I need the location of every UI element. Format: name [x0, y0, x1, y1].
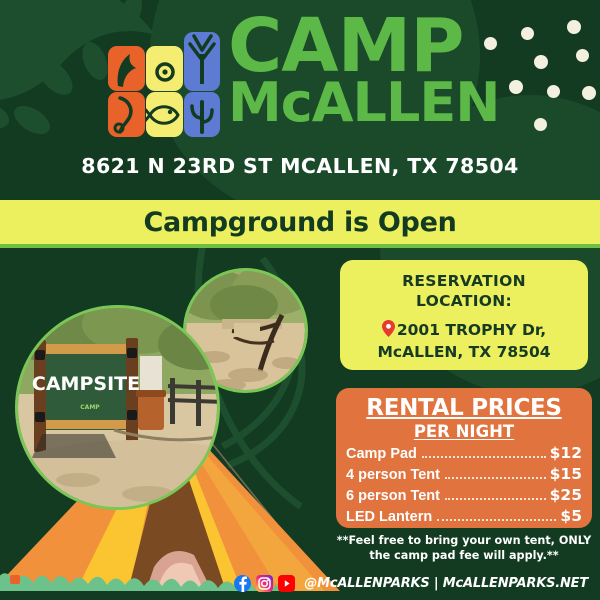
price-label: 6 person Tent — [346, 488, 440, 504]
reservation-title: RESERVATION LOCATION: — [350, 271, 578, 312]
rental-prices-card: RENTAL PRICES PER NIGHT Camp Pad $12 4 p… — [336, 388, 592, 528]
tree-glyph-tile — [184, 32, 220, 91]
price-row: Camp Pad $12 — [346, 444, 582, 462]
rental-subtitle: PER NIGHT — [346, 422, 582, 441]
price-row: 6 person Tent $25 — [346, 486, 582, 504]
logo-text-camp: CAMP — [228, 18, 499, 76]
price-value: $15 — [550, 465, 582, 483]
dot-leader — [445, 477, 546, 479]
price-label: LED Lantern — [346, 509, 432, 525]
svg-text:CAMP: CAMP — [80, 404, 100, 411]
map-pin-icon — [382, 320, 395, 342]
svg-text:CAMPSITE: CAMPSITE — [32, 373, 140, 395]
logo-wordmark: CAMP McALLEN — [228, 18, 499, 126]
social-handle[interactable]: @McALLENPARKS | McALLENPARKS.NET — [304, 576, 588, 591]
youtube-icon[interactable] — [278, 575, 295, 592]
reservation-title-line2: LOCATION: — [416, 292, 512, 310]
price-value: $25 — [550, 486, 582, 504]
price-label: 4 person Tent — [346, 467, 440, 483]
reservation-address: 2001 TROPHY Dr, McALLEN, TX 78504 — [350, 320, 578, 362]
campsite-sign-photo: CAMPSITE CAMP — [15, 305, 220, 510]
price-row: LED Lantern $5 — [346, 507, 582, 525]
logo: CAMP McALLEN — [108, 32, 499, 137]
reservation-address-line1: 2001 TROPHY Dr, — [397, 321, 546, 339]
cactus-glyph-tile — [184, 92, 220, 137]
rental-title: RENTAL PRICES — [346, 395, 582, 421]
status-banner: Campground is Open — [0, 200, 600, 248]
rental-note-line1: **Feel free to bring your own tent, ONLY — [337, 534, 591, 547]
logo-glyph-grid — [108, 32, 220, 137]
fish-glyph-tile — [146, 92, 183, 137]
dot-leader — [437, 519, 556, 521]
price-row: 4 person Tent $15 — [346, 465, 582, 483]
logo-text-mcallen: McALLEN — [228, 80, 499, 126]
facebook-icon[interactable] — [234, 575, 251, 592]
instagram-icon[interactable] — [256, 575, 273, 592]
poster-root: CAMP McALLEN 8621 N 23RD ST MCALLEN, TX … — [0, 0, 600, 600]
status-banner-text: Campground is Open — [144, 207, 457, 238]
reservation-title-line1: RESERVATION — [402, 272, 526, 290]
bird-glyph-tile — [108, 46, 145, 91]
deer-glyph-tile — [108, 92, 145, 137]
rental-note: **Feel free to bring your own tent, ONLY… — [332, 533, 596, 563]
price-value: $5 — [560, 507, 582, 525]
rental-note-line2: the camp pad fee will apply.** — [369, 549, 558, 562]
dot-leader — [422, 456, 546, 458]
header-address: 8621 N 23RD ST MCALLEN, TX 78504 — [0, 154, 600, 178]
header: CAMP McALLEN 8621 N 23RD ST MCALLEN, TX … — [0, 0, 600, 196]
footer: @McALLENPARKS | McALLENPARKS.NET — [0, 570, 600, 596]
dot-leader — [445, 498, 546, 500]
reservation-address-line2: McALLEN, TX 78504 — [377, 343, 550, 361]
price-label: Camp Pad — [346, 446, 417, 462]
sun-glyph-tile — [146, 46, 183, 91]
price-value: $12 — [550, 444, 582, 462]
reservation-card: RESERVATION LOCATION: 2001 TROPHY Dr, Mc… — [340, 260, 588, 370]
